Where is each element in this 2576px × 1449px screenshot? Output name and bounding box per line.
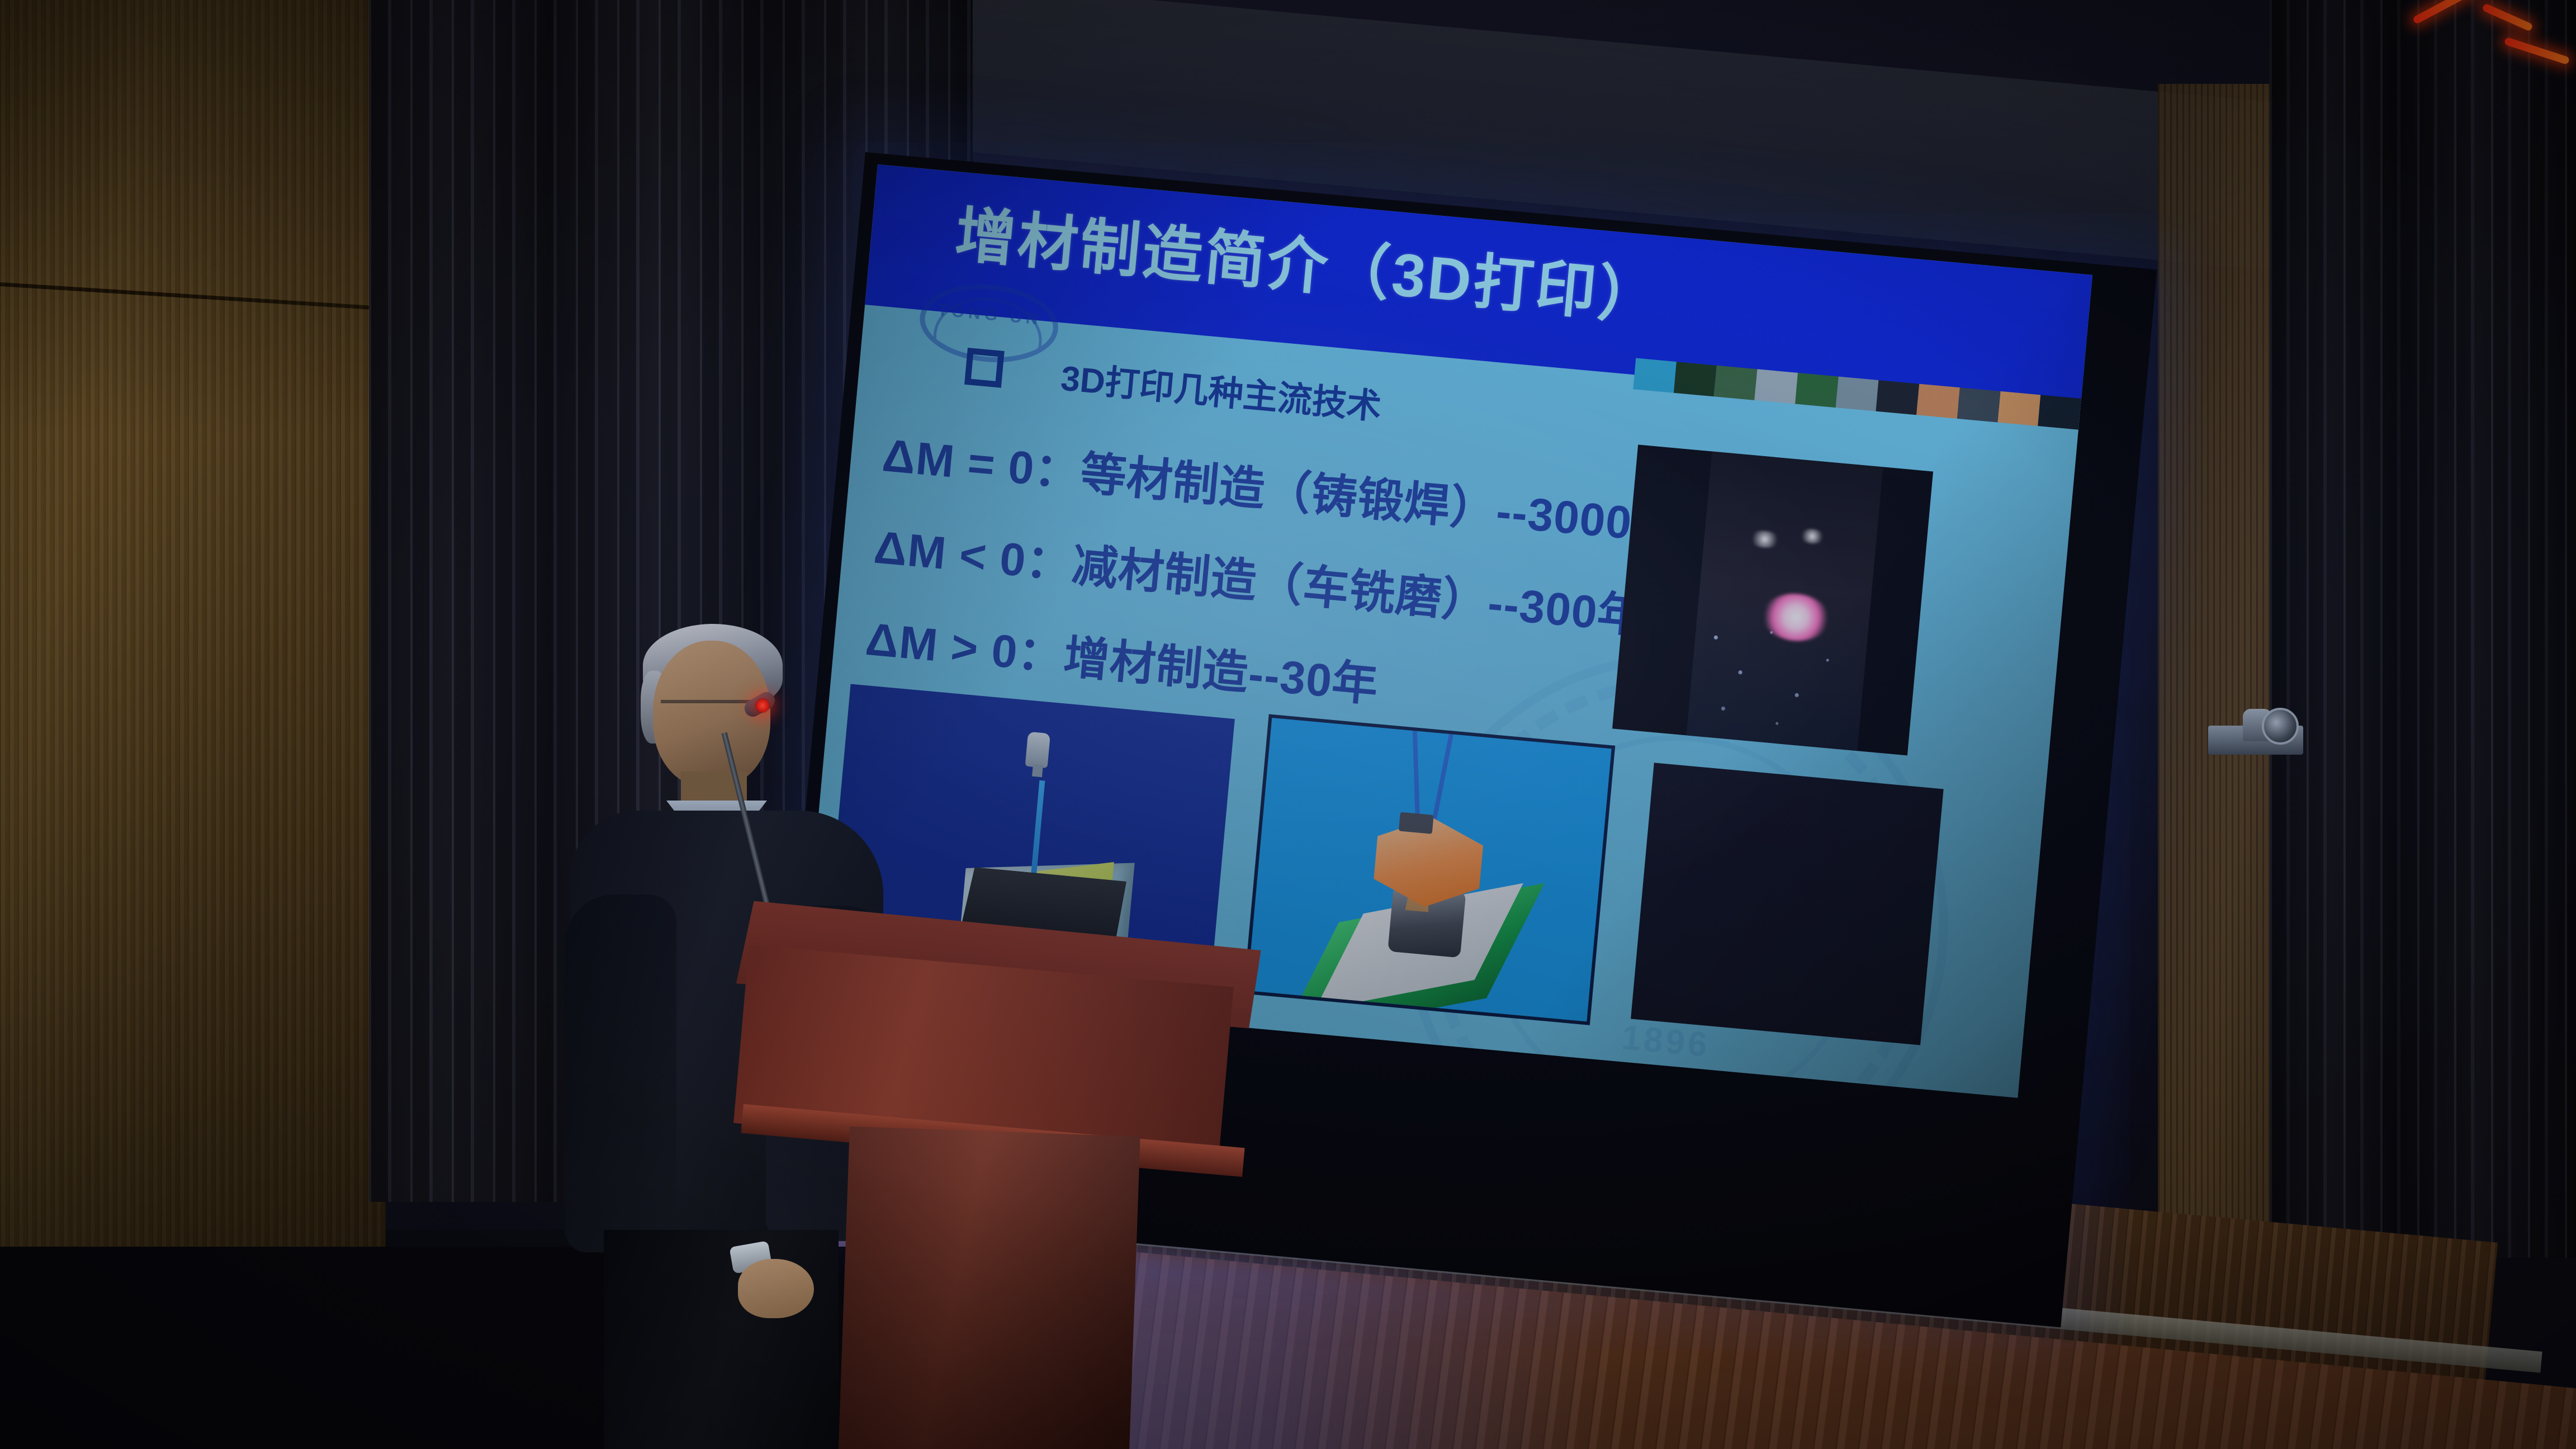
filmstrip-cell bbox=[1916, 384, 1960, 419]
neon-strip-1 bbox=[2412, 0, 2485, 25]
wood-panel-seam bbox=[0, 282, 385, 310]
filmstrip-cell bbox=[1835, 376, 1879, 411]
filmstrip-cell bbox=[1795, 373, 1839, 408]
square-bullet-icon bbox=[964, 348, 1005, 388]
speaker-left-arm bbox=[565, 894, 676, 1252]
neon-strip-2 bbox=[2482, 3, 2533, 31]
blank-dark-panel bbox=[1631, 763, 1944, 1045]
laser-head-icon bbox=[1025, 732, 1050, 768]
microphone-indicator-led bbox=[755, 698, 770, 713]
speaker-legs bbox=[604, 1230, 839, 1449]
filmstrip-cell bbox=[1633, 358, 1677, 392]
filmstrip-cell bbox=[1876, 380, 1920, 415]
presentation-photo: 增材制造简介（3D打印） TONG UN 3 bbox=[0, 0, 2576, 1449]
slide-bullet-row: 3D打印几种主流技术 bbox=[964, 341, 1384, 429]
filmstrip-cell bbox=[2038, 395, 2081, 429]
slide-title: 增材制造简介（3D打印） bbox=[953, 204, 1663, 328]
extruder-head-top bbox=[1399, 812, 1434, 834]
filmstrip-cell bbox=[1674, 362, 1717, 396]
camera-lens-icon bbox=[2262, 708, 2299, 745]
fdm-extrusion-diagram-panel bbox=[1243, 714, 1615, 1025]
left-wood-wall-panel bbox=[0, 0, 386, 1449]
speaker-hand bbox=[738, 1259, 814, 1318]
filmstrip-cell bbox=[1997, 391, 2041, 426]
laser-melt-pool-video-panel bbox=[1612, 444, 1933, 755]
laser-head-tip bbox=[1032, 764, 1043, 778]
red-neon-lights bbox=[2398, 0, 2566, 58]
ptz-camera bbox=[2208, 703, 2309, 770]
slide-bullet-text: 3D打印几种主流技术 bbox=[1059, 350, 1384, 429]
podium-column bbox=[838, 1126, 1140, 1449]
filmstrip-cell bbox=[1755, 369, 1798, 404]
filmstrip-cell bbox=[1957, 387, 2001, 422]
right-stage-curtain bbox=[2270, 0, 2576, 1258]
filmstrip-cell bbox=[1714, 366, 1758, 400]
